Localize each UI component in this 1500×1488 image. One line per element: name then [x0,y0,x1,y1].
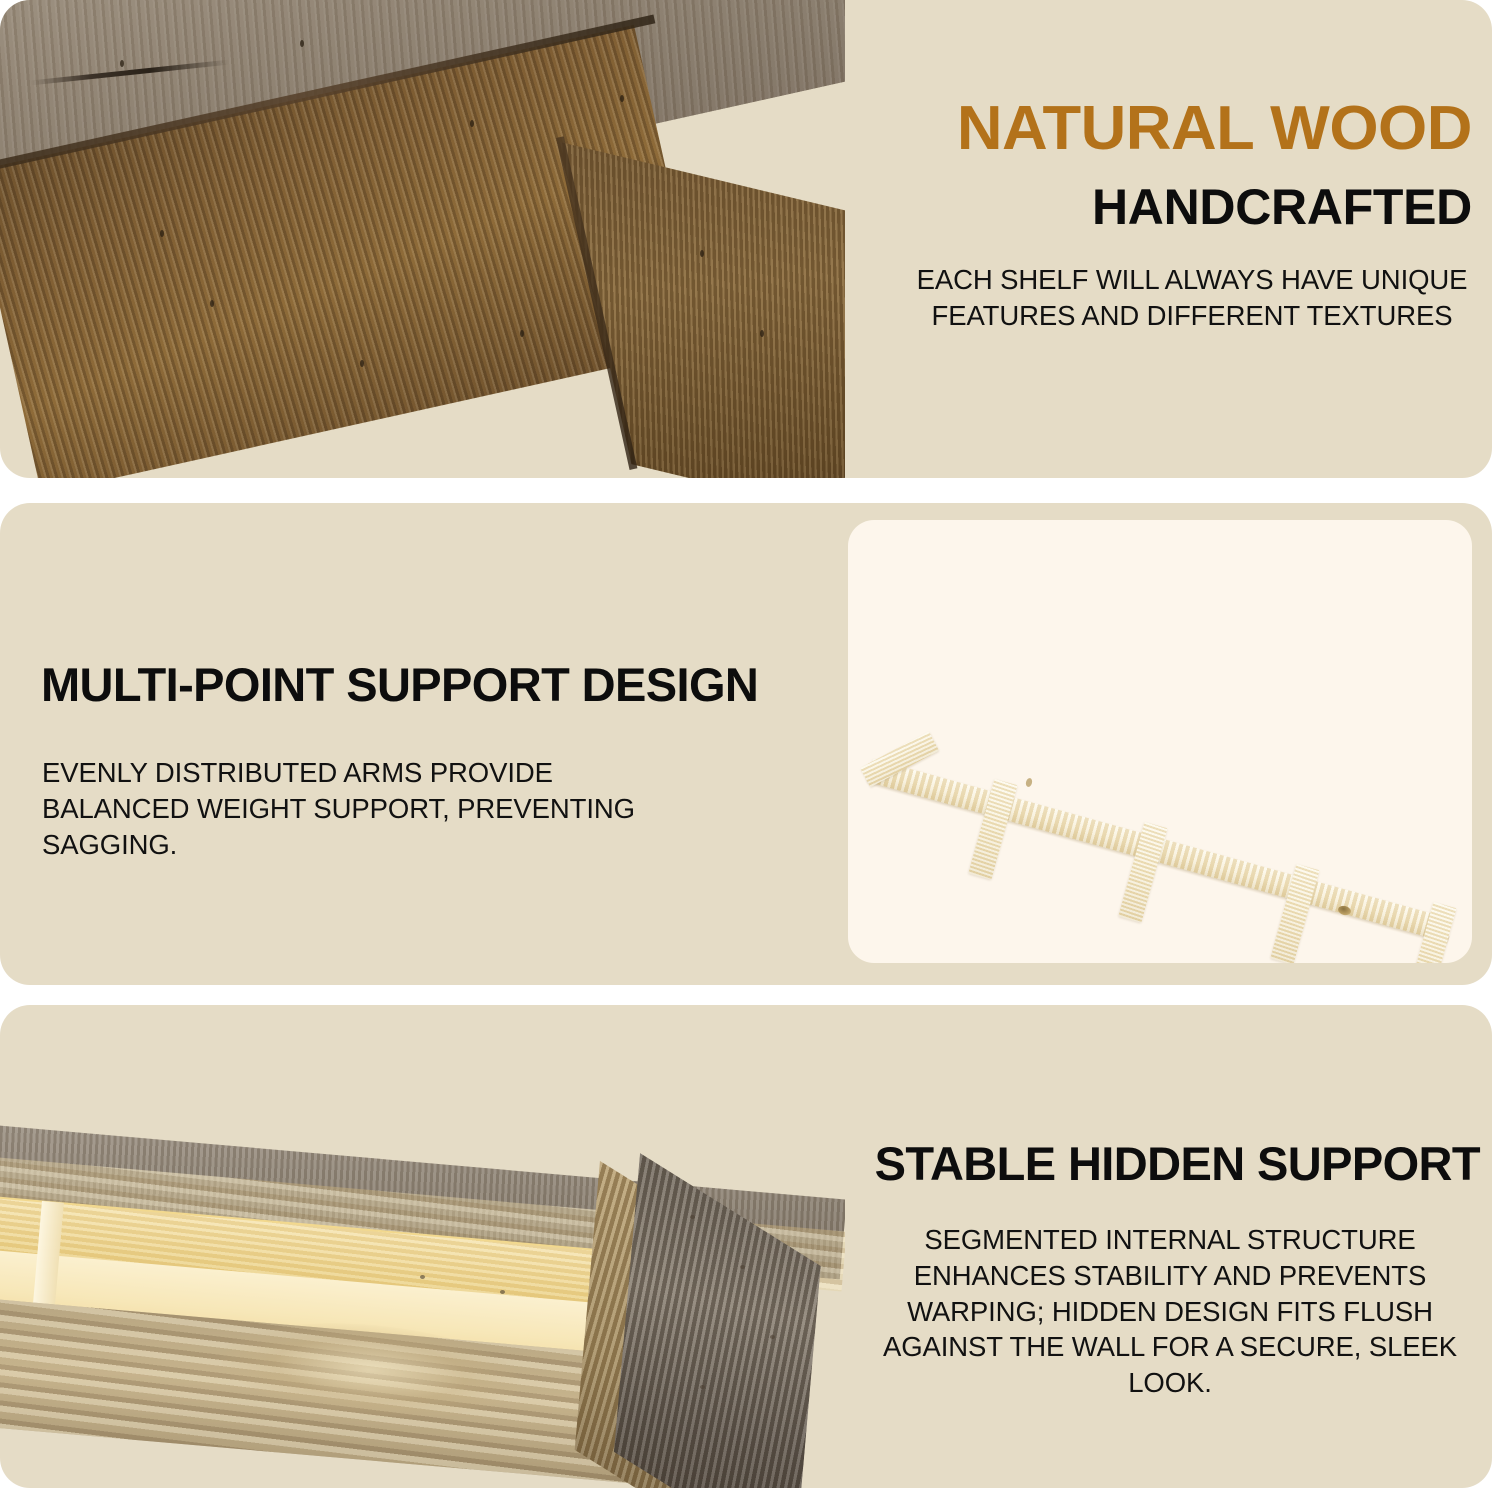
panel-body-stable-hidden-support: SEGMENTED INTERNAL STRUCTURE ENHANCES ST… [860,1222,1480,1401]
shelf-end-face [560,142,845,478]
panel-natural-wood: NATURAL WOOD HANDCRAFTED EACH SHELF WILL… [0,0,1492,478]
bracket-image-card [848,520,1472,963]
panel-body-natural-wood: EACH SHELF WILL ALWAYS HAVE UNIQUE FEATU… [912,262,1472,334]
panel-subtitle-handcrafted: HANDCRAFTED [1092,182,1472,232]
hollow-shelf-internal-structure-photo [0,1005,845,1488]
panel-title-natural-wood: NATURAL WOOD [957,98,1472,160]
panel-body-multi-point-support: EVENLY DISTRIBUTED ARMS PROVIDE BALANCED… [42,755,702,862]
infographic-sheet: NATURAL WOOD HANDCRAFTED EACH SHELF WILL… [0,0,1500,1488]
bracket-wood-knot [1025,777,1033,787]
panel-title-multi-point-support: MULTI-POINT SUPPORT DESIGN [41,661,758,708]
pine-wall-bracket-photo [848,520,1472,963]
panel-title-stable-hidden-support: STABLE HIDDEN SUPPORT [875,1140,1480,1187]
rustic-wood-shelf-corner-photo [0,0,845,478]
